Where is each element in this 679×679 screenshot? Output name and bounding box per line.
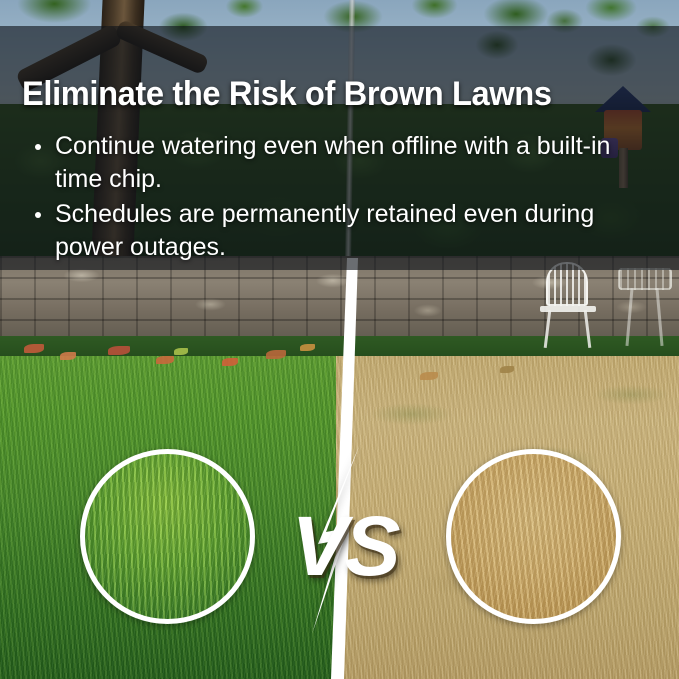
- magnifier-circle-brown-grass: [446, 449, 621, 624]
- versus-label: VS: [272, 504, 417, 588]
- fallen-leaf: [108, 346, 130, 355]
- list-item: Schedules are permanently retained even …: [22, 198, 660, 264]
- fallen-leaf: [420, 372, 438, 380]
- feature-bullet-list: Continue watering even when offline with…: [22, 130, 660, 266]
- fallen-leaf: [300, 344, 315, 351]
- fallen-leaf: [24, 344, 44, 353]
- header-overlay-panel: Eliminate the Risk of Brown Lawns Contin…: [0, 26, 679, 270]
- garden-chair-primary: [540, 262, 598, 348]
- chair2-backrest: [618, 268, 672, 290]
- chair-leg-left: [544, 310, 552, 348]
- versus-badge: VS: [272, 444, 417, 634]
- fallen-leaf: [60, 352, 76, 360]
- page-title: Eliminate the Risk of Brown Lawns: [22, 74, 636, 114]
- fallen-leaf: [500, 366, 514, 373]
- fallen-leaf: [266, 350, 286, 359]
- chair-leg-right: [584, 310, 592, 348]
- chair2-leg-right: [655, 288, 663, 346]
- fallen-leaf: [222, 358, 238, 366]
- lawn-comparison-promo-card: Eliminate the Risk of Brown Lawns Contin…: [0, 0, 679, 679]
- fallen-leaf: [174, 348, 188, 355]
- garden-chair-secondary: [618, 268, 674, 348]
- list-item: Continue watering even when offline with…: [22, 130, 660, 196]
- magnifier-circle-green-grass: [80, 449, 255, 624]
- chair2-leg-left: [625, 288, 633, 346]
- fallen-leaf: [156, 356, 174, 364]
